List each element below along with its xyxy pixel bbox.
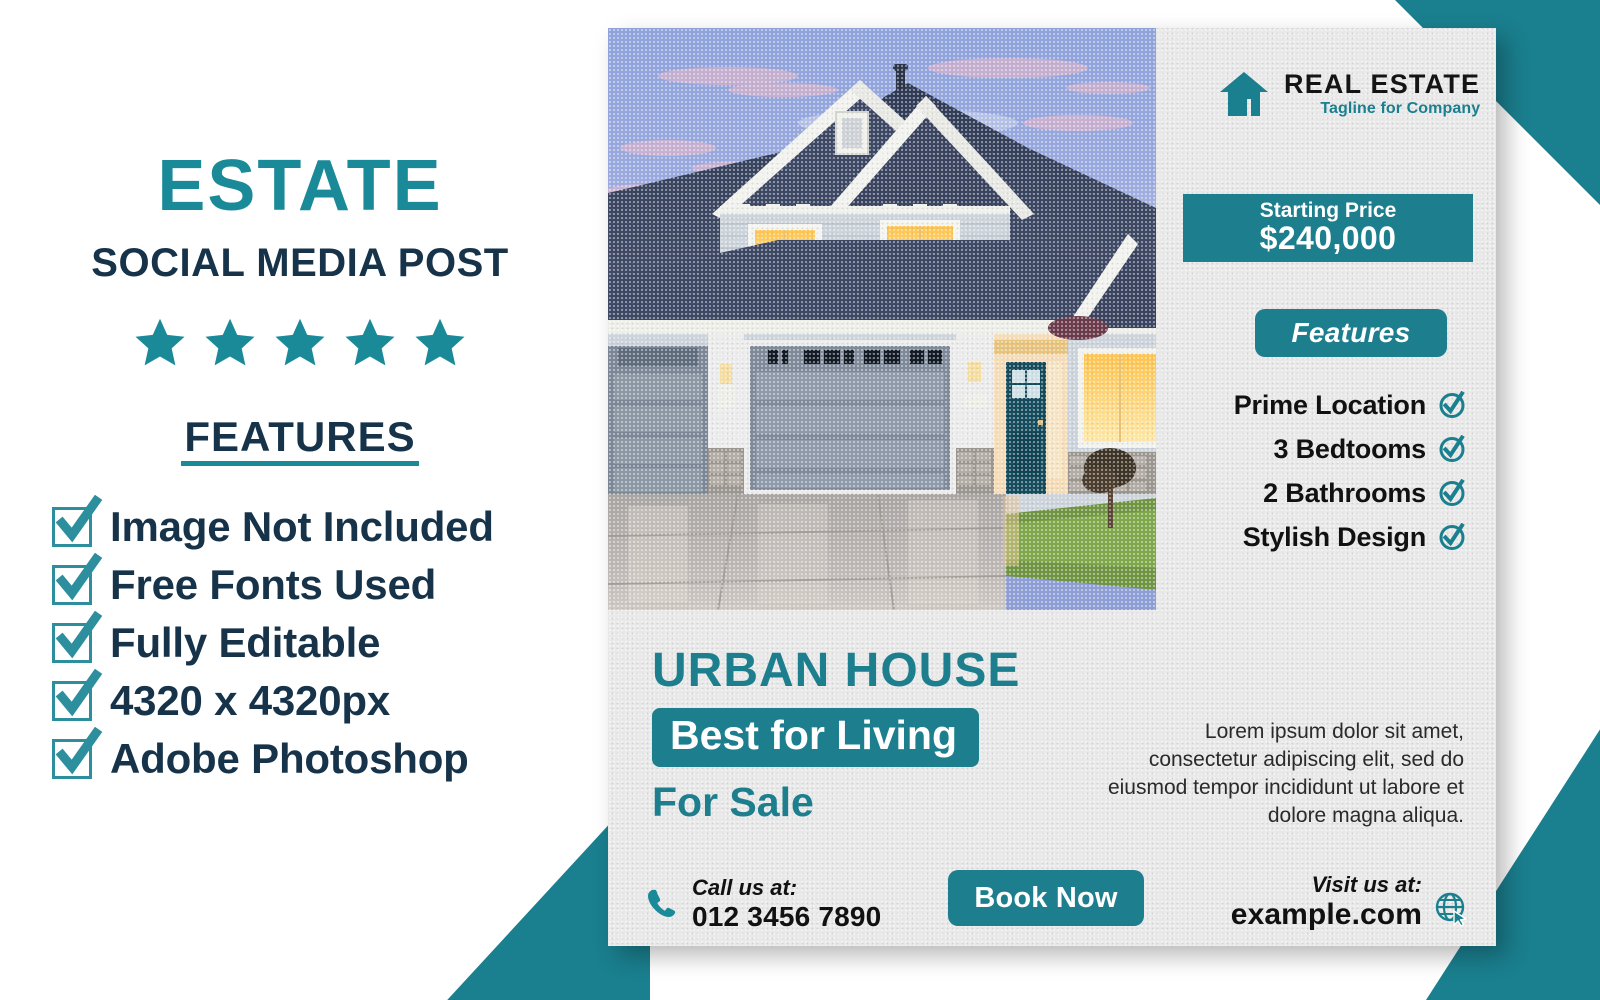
list-item: 2 Bathrooms — [1106, 471, 1466, 515]
list-item-label: Prime Location — [1234, 390, 1426, 421]
page-subtitle: SOCIAL MEDIA POST — [0, 243, 600, 283]
star-icon — [132, 315, 188, 371]
listing-title: URBAN HOUSE — [652, 646, 1020, 696]
book-now-button[interactable]: Book Now — [948, 870, 1144, 926]
list-item-label: Fully Editable — [110, 619, 380, 667]
website-block[interactable]: Visit us at: example.com — [1231, 873, 1470, 931]
list-item: Image Not Included — [52, 498, 592, 556]
list-item-label: 2 Bathrooms — [1263, 478, 1426, 509]
price-label: Starting Price — [1260, 200, 1397, 222]
brand-name: REAL ESTATE — [1284, 70, 1480, 98]
star-icon — [202, 315, 258, 371]
check-circle-icon — [1438, 435, 1466, 463]
list-item-label: Adobe Photoshop — [110, 735, 469, 783]
template-feature-list: Image Not Included Free Fonts Used Fully… — [52, 498, 592, 788]
features-badge-label: Features — [1291, 317, 1410, 349]
star-icon — [342, 315, 398, 371]
features-badge: Features — [1255, 309, 1447, 357]
phone-icon — [644, 887, 678, 921]
listing-description: Lorem ipsum dolor sit amet, consectetur … — [1092, 718, 1464, 830]
list-item-label: 4320 x 4320px — [110, 677, 390, 725]
list-item: Free Fonts Used — [52, 556, 592, 614]
list-item: 4320 x 4320px — [52, 672, 592, 730]
house-photo — [608, 28, 1156, 610]
list-item-label: 3 Bedtooms — [1273, 434, 1426, 465]
checkbox-checked-icon — [52, 565, 92, 605]
checkbox-checked-icon — [52, 681, 92, 721]
check-circle-icon — [1438, 479, 1466, 507]
visit-label: Visit us at: — [1231, 873, 1422, 898]
list-item: Fully Editable — [52, 614, 592, 672]
website-url: example.com — [1231, 898, 1422, 932]
poster-canvas: ESTATE SOCIAL MEDIA POST FEATURES Image … — [0, 0, 1600, 1000]
house-logo-icon — [1218, 68, 1270, 120]
price-value: $240,000 — [1260, 222, 1397, 256]
book-now-label: Book Now — [974, 882, 1117, 915]
list-item-label: Stylish Design — [1243, 522, 1426, 553]
star-icon — [272, 315, 328, 371]
property-feature-list: Prime Location 3 Bedtooms 2 Bathrooms — [1106, 383, 1466, 559]
check-circle-icon — [1438, 391, 1466, 419]
call-label: Call us at: — [692, 876, 881, 901]
list-item: Prime Location — [1106, 383, 1466, 427]
checkbox-checked-icon — [52, 623, 92, 663]
rating-stars — [0, 315, 600, 371]
list-item-label: Free Fonts Used — [110, 561, 436, 609]
list-item: Adobe Photoshop — [52, 730, 592, 788]
starting-price-block: Starting Price $240,000 — [1183, 194, 1473, 262]
left-info-panel: ESTATE SOCIAL MEDIA POST FEATURES Image … — [0, 0, 600, 1000]
listing-status: For Sale — [652, 780, 1020, 825]
features-heading: FEATURES — [0, 415, 600, 466]
list-item: 3 Bedtooms — [1106, 427, 1466, 471]
list-item: Stylish Design — [1106, 515, 1466, 559]
globe-cursor-icon — [1434, 891, 1470, 927]
social-media-post-card: REAL ESTATE Tagline for Company Starting… — [608, 28, 1496, 946]
brand-tagline: Tagline for Company — [1284, 101, 1480, 118]
features-heading-underline — [181, 461, 419, 466]
list-item-label: Image Not Included — [110, 503, 494, 551]
checkbox-checked-icon — [52, 507, 92, 547]
star-icon — [412, 315, 468, 371]
features-heading-label: FEATURES — [0, 415, 600, 459]
listing-headline: URBAN HOUSE Best for Living For Sale — [652, 646, 1020, 826]
check-circle-icon — [1438, 523, 1466, 551]
contact-phone-block[interactable]: Call us at: 012 3456 7890 — [644, 876, 881, 932]
page-title: ESTATE — [0, 150, 600, 222]
checkbox-checked-icon — [52, 739, 92, 779]
brand-logo: REAL ESTATE Tagline for Company — [1218, 68, 1480, 120]
listing-tagline-badge: Best for Living — [652, 708, 979, 767]
phone-number: 012 3456 7890 — [692, 901, 881, 932]
